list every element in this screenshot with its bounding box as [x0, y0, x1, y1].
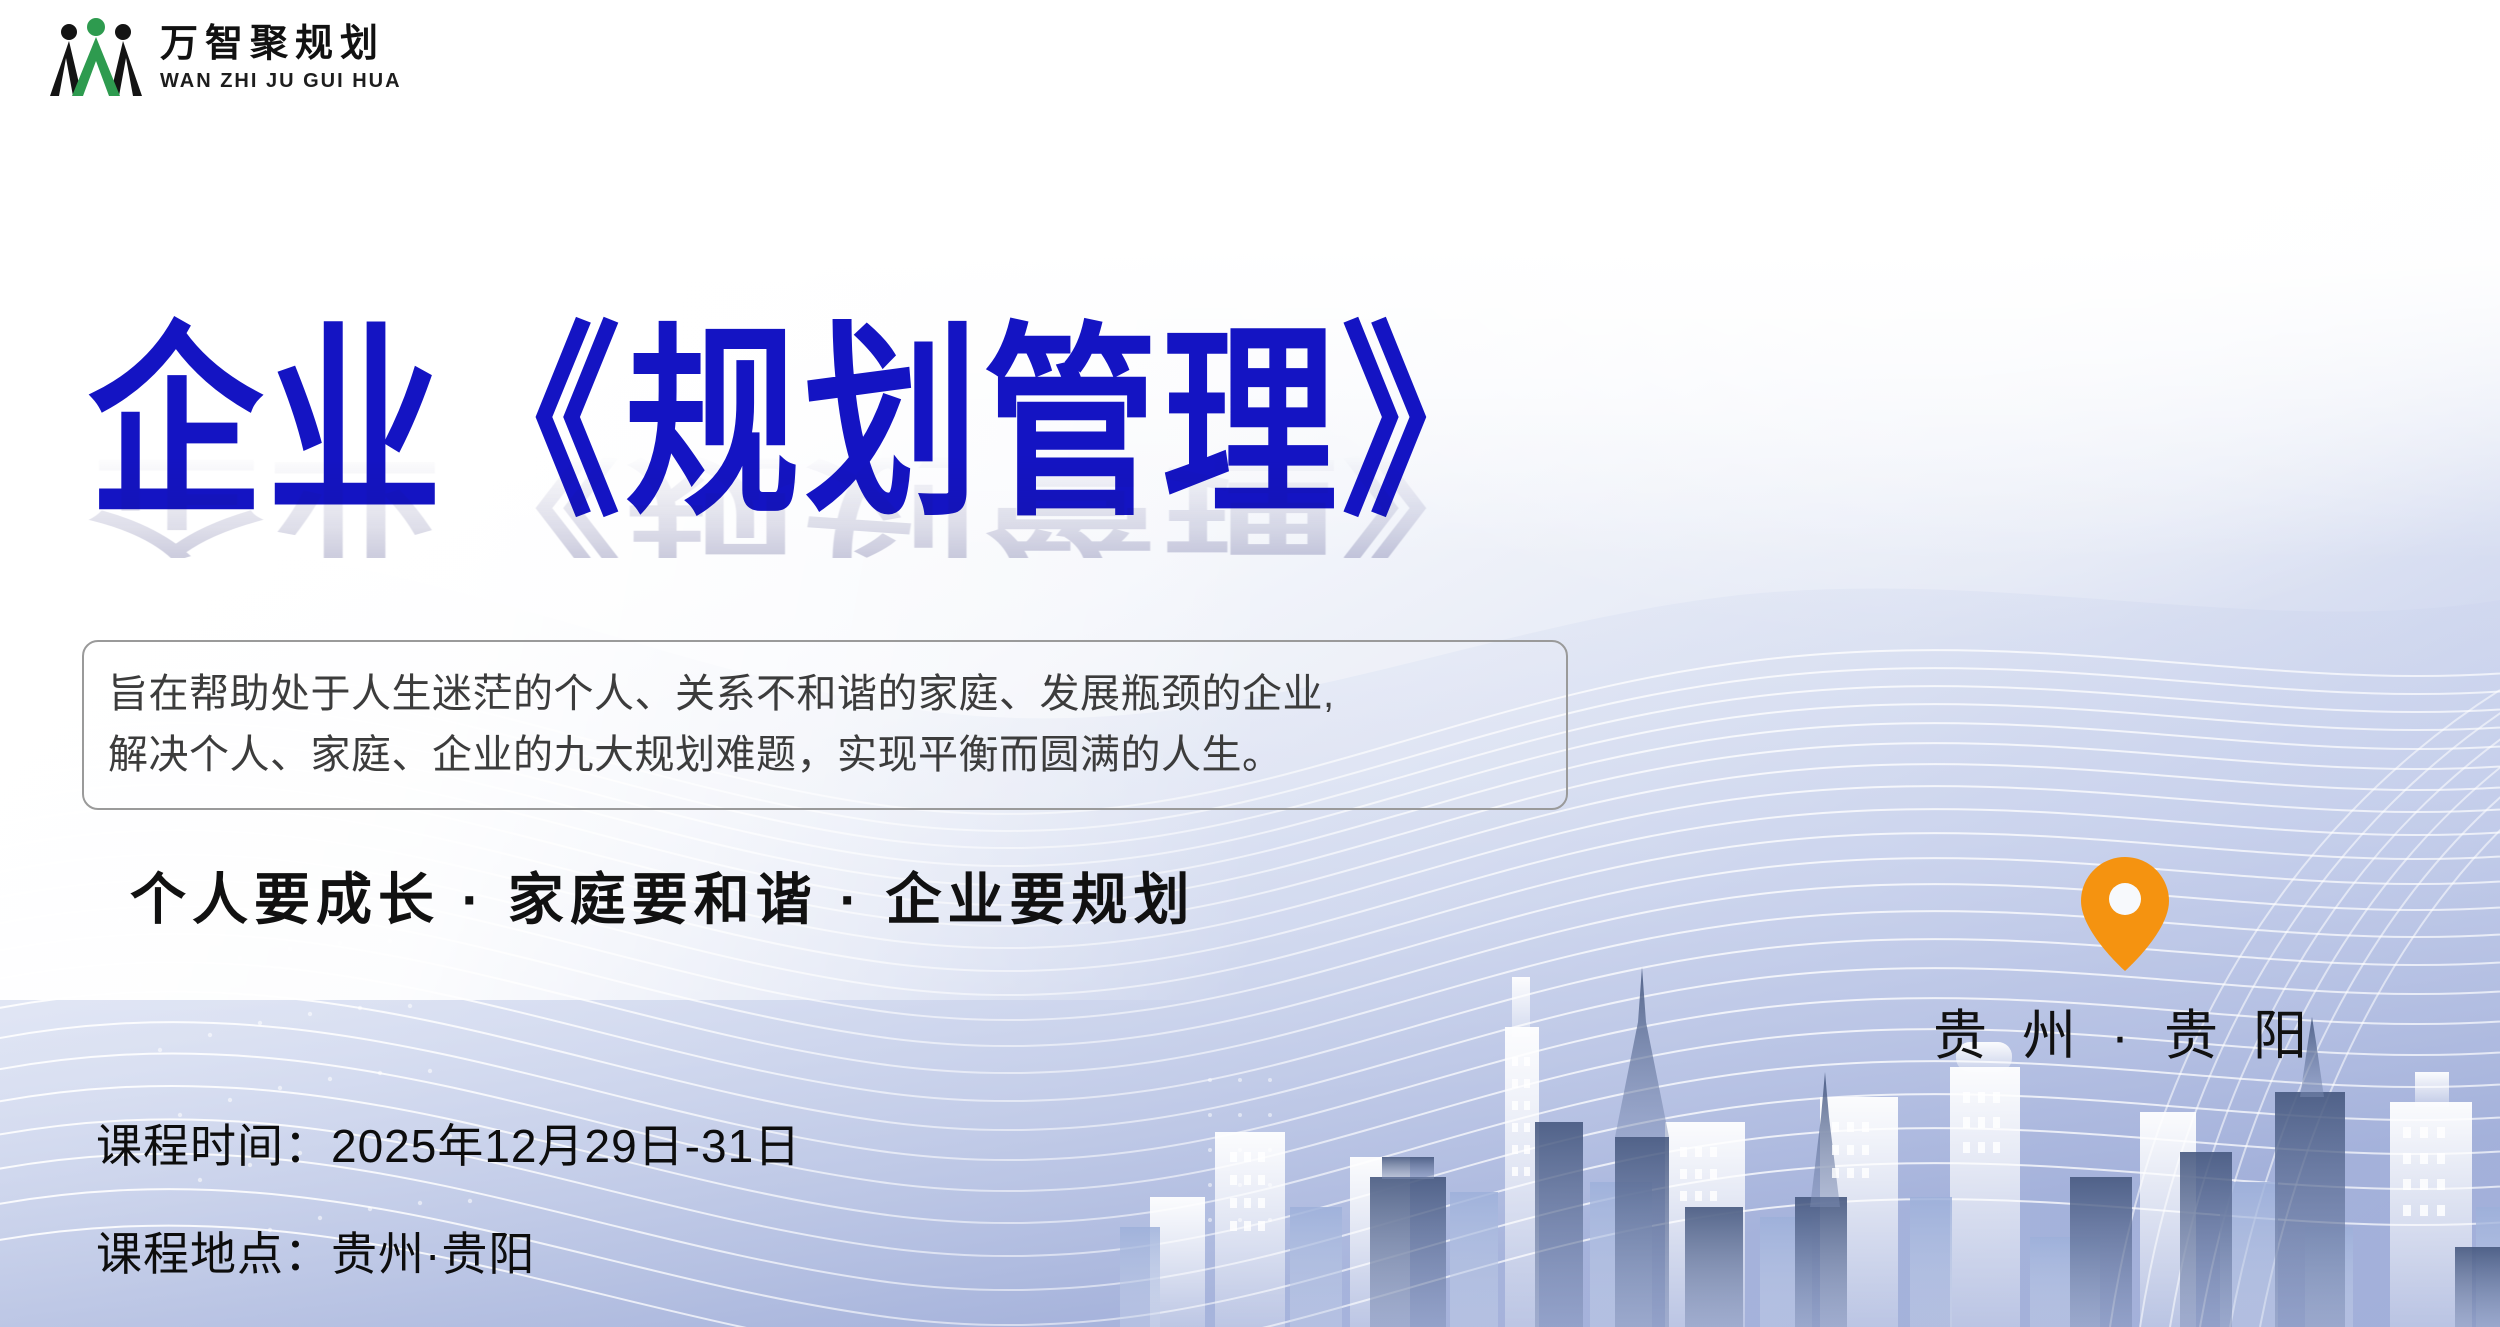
tagline: 个人要成长 · 家庭要和谐 · 企业要规划	[130, 855, 1196, 936]
location-block: 贵 州 · 贵 阳	[1930, 855, 2320, 1070]
course-time: 课程时间：2025年12月29日-31日	[96, 1110, 801, 1176]
location-label: 贵 州 · 贵 阳	[1930, 991, 2320, 1070]
three-people-logo-icon	[48, 18, 144, 96]
hero-title-block: 企业《规划管理》 企业《规划管理》	[88, 322, 1520, 497]
brand-logo[interactable]: 万智聚规划 WAN ZHI JU GUI HUA	[48, 18, 402, 96]
brand-name-pinyin: WAN ZHI JU GUI HUA	[160, 71, 402, 91]
page-title-reflection: 企业《规划管理》	[88, 450, 1520, 559]
brand-name-cn: 万智聚规划	[160, 24, 402, 62]
map-pin-icon	[2077, 855, 2173, 973]
description-line-1: 旨在帮助处于人生迷茫的个人、关系不和谐的家庭、发展瓶颈的企业,	[108, 664, 1540, 725]
brand-logo-text: 万智聚规划 WAN ZHI JU GUI HUA	[160, 24, 402, 91]
course-info: 课程时间：2025年12月29日-31日 课程地点：贵州·贵阳	[96, 1110, 801, 1284]
course-place: 课程地点：贵州·贵阳	[96, 1218, 801, 1284]
description-line-2: 解决个人、家庭、企业的九大规划难题，实现平衡而圆满的人生。	[108, 725, 1540, 786]
poster-canvas: 万智聚规划 WAN ZHI JU GUI HUA 企业《规划管理》 企业《规划管…	[0, 0, 2500, 1327]
description-box: 旨在帮助处于人生迷茫的个人、关系不和谐的家庭、发展瓶颈的企业, 解决个人、家庭、…	[82, 640, 1568, 810]
